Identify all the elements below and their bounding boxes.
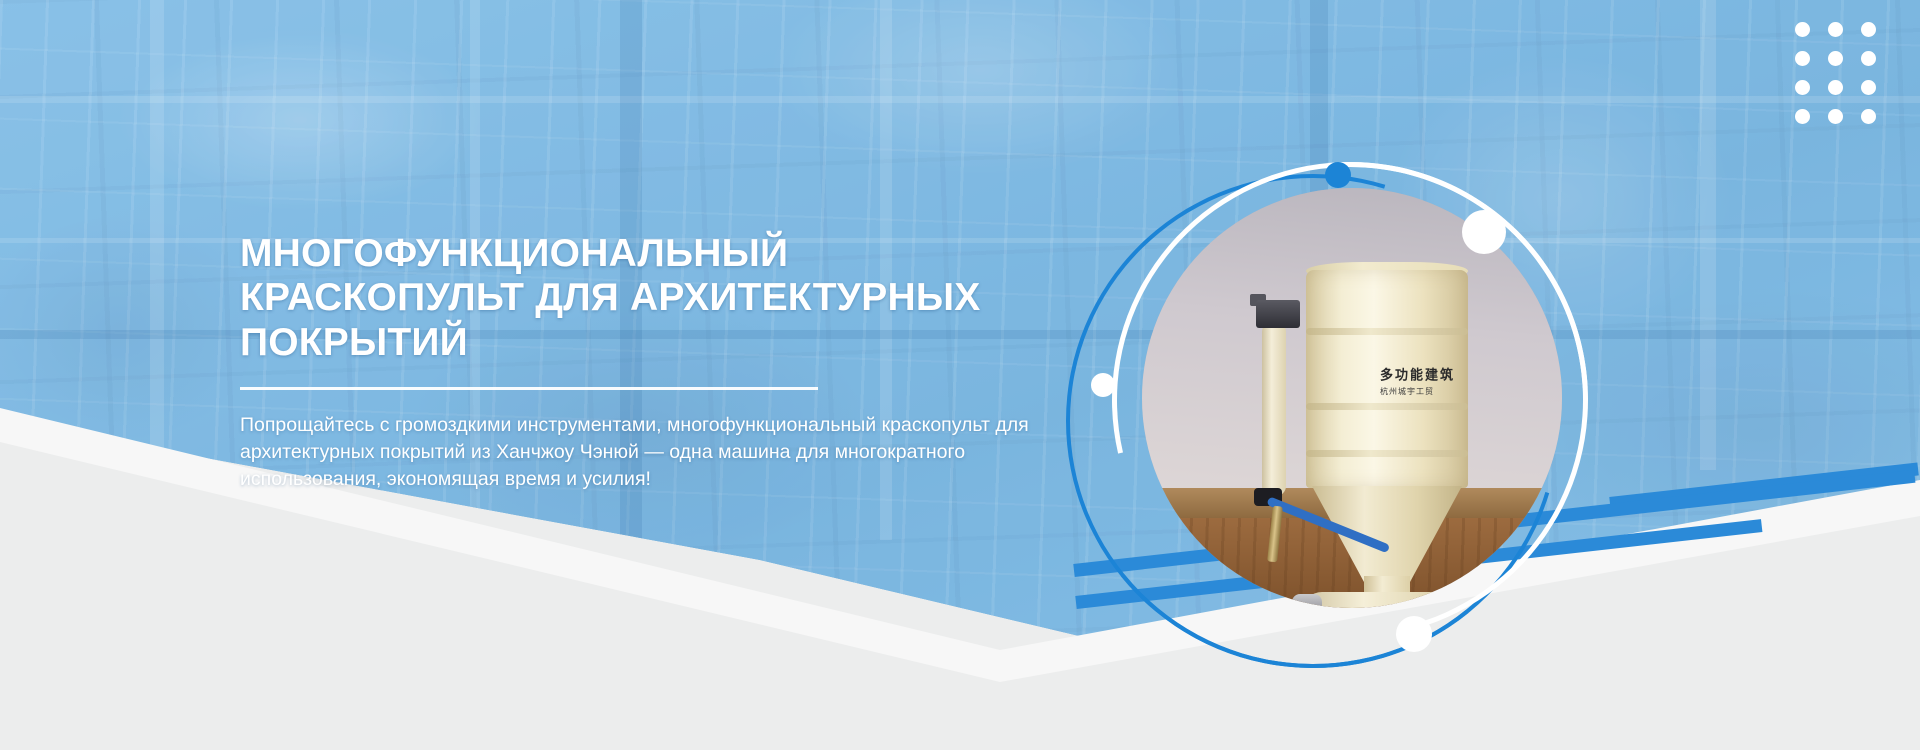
white-node-dot xyxy=(1462,210,1506,254)
grid-dot xyxy=(1795,51,1810,66)
grid-dot xyxy=(1795,22,1810,37)
grid-dot xyxy=(1861,80,1876,95)
background-rail xyxy=(0,96,1920,103)
grid-dot xyxy=(1795,80,1810,95)
outlet-cap-right xyxy=(1460,594,1494,608)
blue-node-dot xyxy=(1325,162,1351,188)
page-title: МНОГОФУНКЦИОНАЛЬНЫЙ КРАСКОПУЛЬТ ДЛЯ АРХИ… xyxy=(240,232,1040,365)
hopper-rib xyxy=(1306,450,1468,457)
hero-banner: МНОГОФУНКЦИОНАЛЬНЫЙ КРАСКОПУЛЬТ ДЛЯ АРХИ… xyxy=(0,0,1920,750)
grid-dot xyxy=(1795,109,1810,124)
dot-grid-decoration xyxy=(1795,22,1876,124)
hero-description: Попрощайтесь с громоздкими инструментами… xyxy=(240,412,1030,493)
background-beam xyxy=(1700,0,1716,470)
product-label-primary: 多功能建筑 xyxy=(1380,364,1455,384)
grid-dot xyxy=(1828,109,1843,124)
grid-dot xyxy=(1828,80,1843,95)
outlet-cap-left xyxy=(1292,594,1322,608)
white-node-dot xyxy=(1396,616,1432,652)
product-label-secondary: 杭州城宇工贸 xyxy=(1380,386,1434,397)
white-node-dot xyxy=(1091,373,1115,397)
hopper-outlet xyxy=(1302,592,1478,608)
grid-dot xyxy=(1828,51,1843,66)
hopper-rib xyxy=(1306,328,1468,335)
sprayer-side-tube xyxy=(1262,322,1286,496)
sprayer-clamp xyxy=(1256,300,1300,328)
grid-dot xyxy=(1828,22,1843,37)
hero-copy-block: МНОГОФУНКЦИОНАЛЬНЫЙ КРАСКОПУЛЬТ ДЛЯ АРХИ… xyxy=(240,232,1040,493)
hopper-rib xyxy=(1306,403,1468,410)
product-showcase: 多功能建筑 杭州城宇工贸 xyxy=(1060,140,1620,700)
grid-dot xyxy=(1861,51,1876,66)
product-photo: 多功能建筑 杭州城宇工贸 xyxy=(1142,188,1562,608)
title-underline xyxy=(240,387,818,390)
grid-dot xyxy=(1861,109,1876,124)
grid-dot xyxy=(1861,22,1876,37)
